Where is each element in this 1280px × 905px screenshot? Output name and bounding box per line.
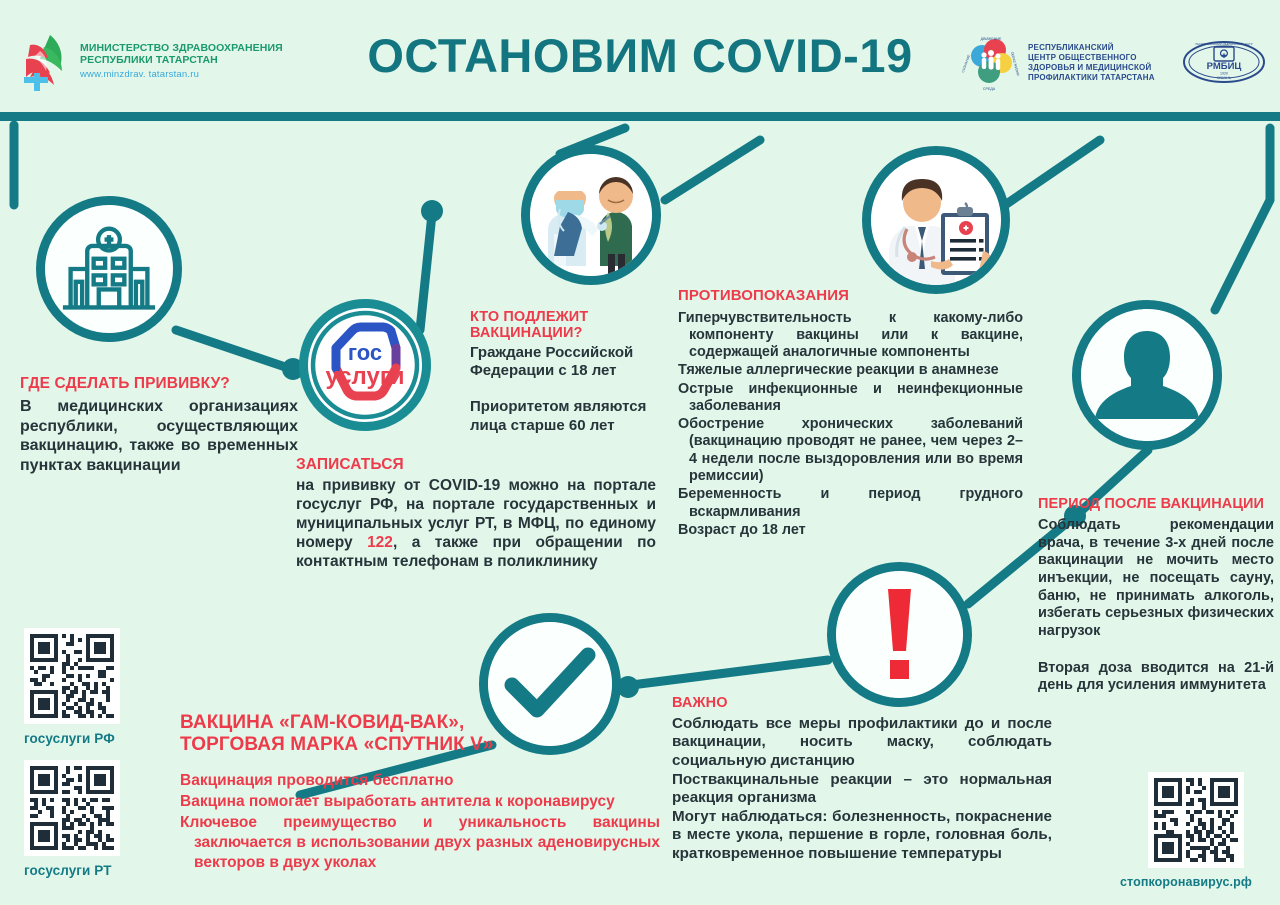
qr-label: стопкоронавирус.рф (1120, 875, 1252, 889)
doctor-with-clipboard-icon (871, 155, 1001, 285)
block-where-to-vaccinate: ГДЕ СДЕЛАТЬ ПРИВИВКУ? В медицинских орга… (20, 375, 298, 475)
covid-vaccination-infographic: МИНИСТЕРСТВО ЗДРАВООХРАНЕНИЯ РЕСПУБЛИКИ … (0, 0, 1280, 905)
node-gosuslugi[interactable]: гос услуги (299, 299, 431, 431)
signup-heading: ЗАПИСАТЬСЯ (296, 456, 656, 473)
list-item: Гиперчувствительность к какому-либо комп… (678, 310, 1023, 362)
list-item: Ключевое преимущество и уникальность вак… (180, 813, 660, 873)
after-body-2: Вторая доза вводится на 21-й день для ус… (1038, 660, 1274, 695)
vaccine-list: Вакцинация проводится бесплатно Вакцина … (180, 771, 660, 874)
node-hospital (36, 196, 182, 342)
vaccine-heading-line1: ВАКЦИНА «ГАМ-КОВИД-ВАК», (180, 712, 660, 734)
who-body-2: Приоритетом являются лица старше 60 лет (470, 398, 680, 435)
signup-phone: 122 (367, 534, 393, 551)
important-heading: ВАЖНО (672, 696, 1052, 712)
who-heading-line2: ВАКЦИНАЦИИ? (470, 326, 680, 342)
qr-label: госуслуги РТ (24, 863, 120, 878)
qr-stopkoronavirus[interactable]: стопкоронавирус.рф (1148, 772, 1252, 889)
node-warning (827, 562, 972, 707)
contraindications-heading: ПРОТИВОПОКАЗАНИЯ (678, 288, 1023, 305)
list-item: Острые инфекционные и неинфекционные заб… (678, 381, 1023, 416)
gosuslugi-logo[interactable]: гос услуги (308, 308, 422, 422)
hospital-icon (45, 205, 173, 333)
block-important: ВАЖНО Соблюдать все меры профилактики до… (672, 696, 1052, 863)
list-item: Беременность и период грудного вскармлив… (678, 486, 1023, 521)
where-heading: ГДЕ СДЕЛАТЬ ПРИВИВКУ? (20, 375, 298, 392)
contraindications-list: Гиперчувствительность к какому-либо комп… (678, 310, 1023, 540)
spacer (1038, 641, 1274, 656)
list-item: Тяжелые аллергические реакции в анамнезе (678, 362, 1023, 379)
gosuslugi-text-bottom: услуги (325, 363, 404, 390)
list-item: Вакцинация проводится бесплатно (180, 771, 660, 791)
qr-code-icon[interactable] (1154, 778, 1238, 862)
exclamation-mark-icon (836, 571, 963, 698)
signup-body: на прививку от COVID-19 можно на портале… (296, 477, 656, 572)
vaccine-heading-line2: ТОРГОВАЯ МАРКА «СПУТНИК V» (180, 734, 660, 756)
qr-gosuslugi-rt[interactable]: госуслуги РТ (24, 760, 120, 878)
node-person (1072, 300, 1222, 450)
who-body-1: Граждане Российской Федерации с 18 лет (470, 344, 680, 381)
node-couple (521, 145, 661, 285)
block-sign-up: ЗАПИСАТЬСЯ на прививку от COVID-19 можно… (296, 456, 656, 572)
block-vaccine-info: ВАКЦИНА «ГАМ-КОВИД-ВАК», ТОРГОВАЯ МАРКА … (180, 712, 660, 875)
qr-code-icon[interactable] (30, 634, 114, 718)
important-body: Соблюдать все меры профилактики до и пос… (672, 715, 1052, 863)
person-silhouette-icon (1081, 309, 1213, 441)
after-body-1: Соблюдать рекомендации врача, в течение … (1038, 517, 1274, 641)
where-body: В медицинских организациях республики, о… (20, 397, 298, 475)
block-contraindications: ПРОТИВОПОКАЗАНИЯ Гиперчувствительность к… (678, 288, 1023, 540)
after-heading: ПЕРИОД ПОСЛЕ ВАКЦИНАЦИИ (1038, 497, 1274, 513)
spacer (470, 380, 680, 396)
qr-code-icon[interactable] (30, 766, 114, 850)
block-who-is-eligible: КТО ПОДЛЕЖИТ ВАКЦИНАЦИИ? Граждане Россий… (470, 310, 680, 435)
who-heading-line1: КТО ПОДЛЕЖИТ (470, 310, 680, 326)
qr-code-image[interactable] (1148, 772, 1244, 868)
list-item: Обострение хронических заболеваний (вакц… (678, 416, 1023, 485)
block-after-vaccination: ПЕРИОД ПОСЛЕ ВАКЦИНАЦИИ Соблюдать рекоме… (1038, 497, 1274, 695)
qr-code-image[interactable] (24, 760, 120, 856)
list-item: Вакцина помогает выработать антитела к к… (180, 792, 660, 812)
gosuslugi-text-top: гос (348, 340, 382, 365)
qr-code-image[interactable] (24, 628, 120, 724)
qr-label: госуслуги РФ (24, 731, 120, 746)
node-doctor (862, 146, 1010, 294)
list-item: Возраст до 18 лет (678, 522, 1023, 539)
nurse-vaccinating-patient-icon (530, 154, 652, 276)
qr-gosuslugi-rf[interactable]: госуслуги РФ (24, 628, 120, 746)
